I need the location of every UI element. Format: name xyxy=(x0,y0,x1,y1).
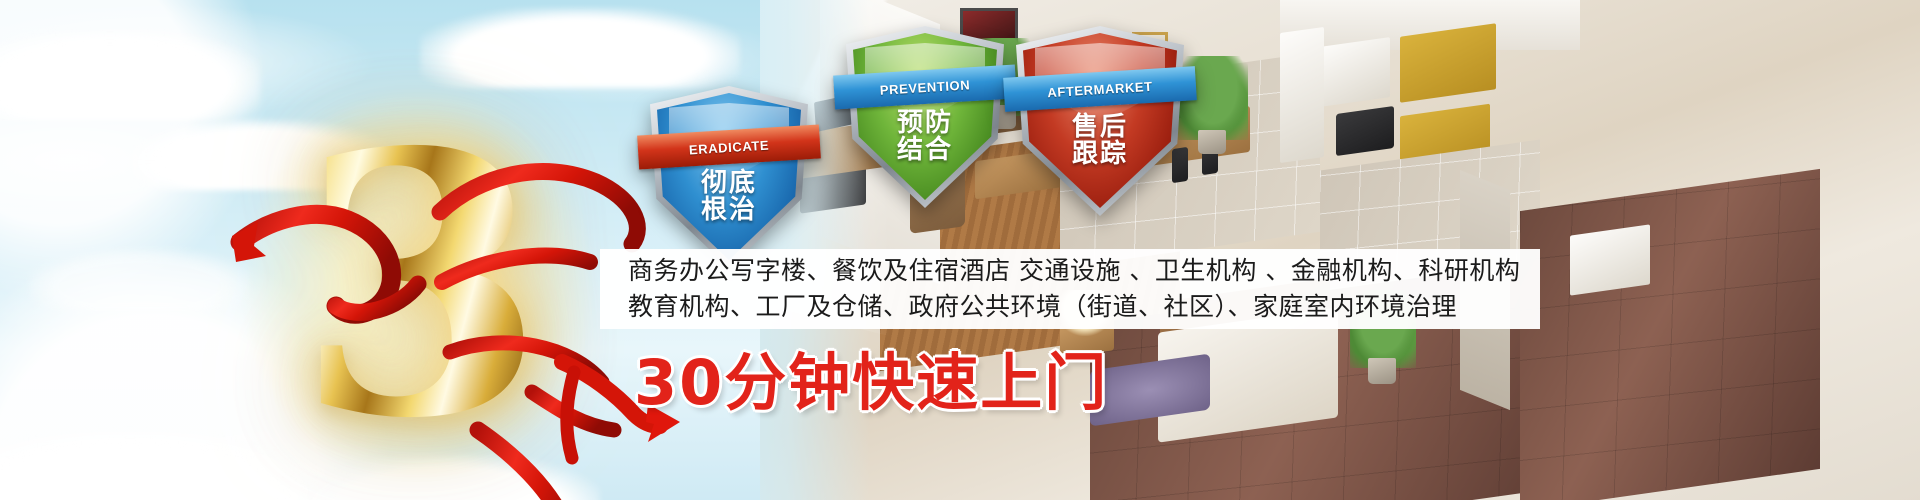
badge-chinese-line2: 跟踪 xyxy=(1016,141,1184,168)
service-scope-line-1: 商务办公写字楼、餐饮及住宿酒店 交通设施 、卫生机构 、金融机构、科研机构 xyxy=(628,253,1514,290)
bathroom-floor xyxy=(1520,169,1820,500)
badge-chinese-label: 预防 结合 xyxy=(846,110,1004,164)
hero-number-3: 3 xyxy=(268,96,568,476)
vanity xyxy=(1570,224,1650,295)
refrigerator xyxy=(1280,27,1324,163)
badge-chinese-label: 售后 跟踪 xyxy=(1016,114,1184,168)
badge-english-label: PREVENTION xyxy=(879,77,970,97)
badge-chinese-line1: 售后 xyxy=(1016,114,1184,141)
badge-chinese-line2: 根治 xyxy=(650,197,808,224)
badge-eradicate[interactable]: ERADICATE 彻底 根治 xyxy=(650,86,808,268)
badge-prevention[interactable]: PREVENTION 预防 结合 xyxy=(846,26,1004,208)
badge-chinese-label: 彻底 根治 xyxy=(650,170,808,224)
badge-aftermarket[interactable]: AFTERMARKET 售后 跟踪 xyxy=(1016,26,1184,216)
badge-chinese-line1: 彻底 xyxy=(650,170,808,197)
badge-english-label: AFTERMARKET xyxy=(1047,78,1153,99)
promo-banner: 3 xyxy=(0,0,1920,500)
badge-english-label: ERADICATE xyxy=(688,137,769,157)
kitchen-cabinet xyxy=(1320,37,1390,107)
badge-chinese-line2: 结合 xyxy=(846,137,1004,164)
oven xyxy=(1336,106,1394,156)
badge-chinese-line1: 预防 xyxy=(846,110,1004,137)
service-scope-panel: 商务办公写字楼、餐饮及住宿酒店 交通设施 、卫生机构 、金融机构、科研机构 教育… xyxy=(600,249,1540,329)
service-scope-line-2: 教育机构、工厂及仓储、政府公共环境（街道、社区）、家庭室内环境治理 xyxy=(628,289,1514,326)
plant-pot xyxy=(1368,358,1396,384)
kitchen-upper-cabinet xyxy=(1400,23,1496,102)
headline-text: 30分钟快速上门 xyxy=(634,352,1108,414)
gold-number-glyph: 3 xyxy=(268,96,568,476)
plant-pot xyxy=(1198,130,1226,154)
